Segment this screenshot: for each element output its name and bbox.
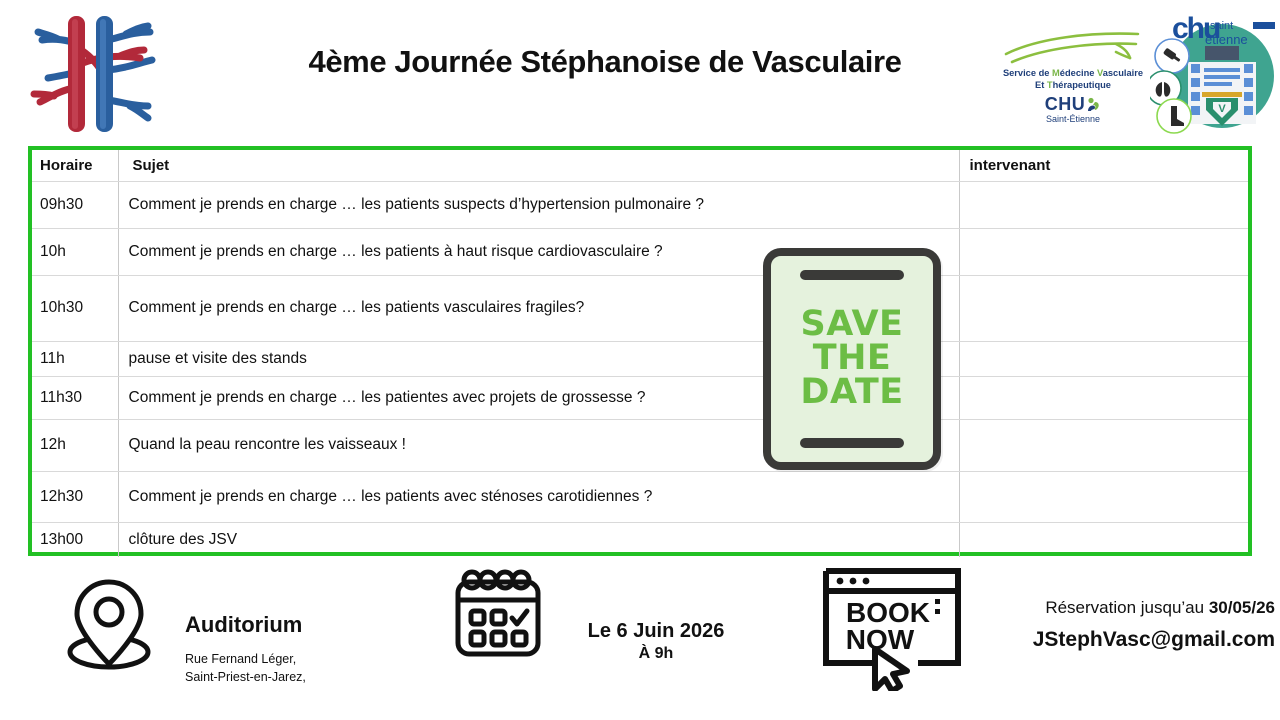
column-header-sujet: Sujet: [118, 150, 959, 181]
venue-address-line1: Rue Fernand Léger,: [185, 650, 306, 668]
cell-speaker: [959, 376, 1248, 419]
column-header-horaire: Horaire: [32, 150, 118, 181]
venue-address: Rue Fernand Léger, Saint-Priest-en-Jarez…: [185, 650, 306, 686]
vascular-vessels-logo: [22, 10, 160, 138]
service-logo-line1: Service de Médecine Vasculaire: [998, 68, 1148, 78]
table-header-row: Horaire Sujet intervenant: [32, 150, 1248, 181]
cell-speaker: [959, 471, 1248, 522]
table-row: 11h30 Comment je prends en charge … les …: [32, 376, 1248, 419]
cell-time: 09h30: [32, 181, 118, 228]
mvt-logo-saint-text: saint: [1210, 20, 1233, 32]
poster-footer: Auditorium Rue Fernand Léger, Saint-Prie…: [0, 556, 1280, 720]
save-the-date-badge: SAVE THE DATE: [763, 248, 941, 470]
event-time: À 9h: [556, 645, 756, 663]
chu-saint-etienne-mvt-logo: V chu saint etienne: [1150, 6, 1278, 138]
table-row: 09h30 Comment je prends en charge … les …: [32, 181, 1248, 228]
page-title: 4ème Journée Stéphanoise de Vasculaire: [200, 44, 1010, 80]
reservation-label: Réservation jusqu’au: [1045, 598, 1208, 617]
reservation-email[interactable]: JStephVasc@gmail.com: [960, 628, 1275, 652]
table-row: 13h00 clôture des JSV: [32, 522, 1248, 557]
service-logo-chu: CHU: [998, 94, 1148, 115]
cell-time: 10h30: [32, 275, 118, 341]
cell-speaker: [959, 228, 1248, 275]
cell-time: 13h00: [32, 522, 118, 557]
service-logo-line2: Et Thérapeutique: [998, 80, 1148, 90]
cell-speaker: [959, 419, 1248, 471]
save-the-date-bottom-bar: [800, 438, 904, 448]
save-the-date-line1: SAVE: [800, 308, 903, 342]
table-row: 10h Comment je prends en charge … les pa…: [32, 228, 1248, 275]
table-row: 12h Quand la peau rencontre les vaisseau…: [32, 419, 1248, 471]
location-pin-icon: [60, 574, 158, 674]
poster-header: 4ème Journée Stéphanoise de Vasculaire S…: [0, 0, 1280, 143]
venue-name: Auditorium: [185, 612, 302, 638]
event-date: Le 6 Juin 2026: [556, 620, 756, 643]
cell-time: 11h30: [32, 376, 118, 419]
table-row: 10h30 Comment je prends en charge … les …: [32, 275, 1248, 341]
reservation-date: 30/05/26: [1209, 598, 1275, 617]
cell-time: 12h: [32, 419, 118, 471]
venue-address-line2: Saint-Priest-en-Jarez,: [185, 668, 306, 686]
cell-speaker: [959, 522, 1248, 557]
cell-subject: clôture des JSV: [118, 522, 959, 557]
save-the-date-text: SAVE THE DATE: [800, 308, 903, 410]
calendar-icon: [452, 568, 544, 660]
table-row: 12h30 Comment je prends en charge … les …: [32, 471, 1248, 522]
cell-subject: Comment je prends en charge … les patien…: [118, 471, 959, 522]
save-the-date-line3: DATE: [800, 376, 903, 410]
cell-time: 10h: [32, 228, 118, 275]
cell-speaker: [959, 341, 1248, 376]
column-header-intervenant: intervenant: [959, 150, 1248, 181]
schedule-table: Horaire Sujet intervenant 09h30 Comment …: [32, 150, 1248, 557]
poster-root: 4ème Journée Stéphanoise de Vasculaire S…: [0, 0, 1280, 720]
cell-speaker: [959, 275, 1248, 341]
service-logo-city: Saint-Étienne: [998, 114, 1148, 124]
cell-speaker: [959, 181, 1248, 228]
svg-text:V: V: [1218, 103, 1226, 115]
save-the-date-line2: THE: [800, 342, 903, 376]
mvt-logo-etienne-text: etienne: [1205, 32, 1248, 47]
cell-time: 12h30: [32, 471, 118, 522]
table-row: 11h pause et visite des stands: [32, 341, 1248, 376]
schedule-table-container: Horaire Sujet intervenant 09h30 Comment …: [28, 146, 1252, 556]
book-now-icon[interactable]: BOOK NOW: [818, 561, 966, 691]
service-medecine-vasculaire-logo: Service de Médecine Vasculaire Et Thérap…: [998, 30, 1148, 126]
reservation-deadline: Réservation jusqu’au 30/05/26: [975, 598, 1275, 618]
cell-time: 11h: [32, 341, 118, 376]
mvt-logo-bar: [1253, 22, 1275, 29]
save-the-date-top-bar: [800, 270, 904, 280]
cell-subject: Comment je prends en charge … les patien…: [118, 181, 959, 228]
